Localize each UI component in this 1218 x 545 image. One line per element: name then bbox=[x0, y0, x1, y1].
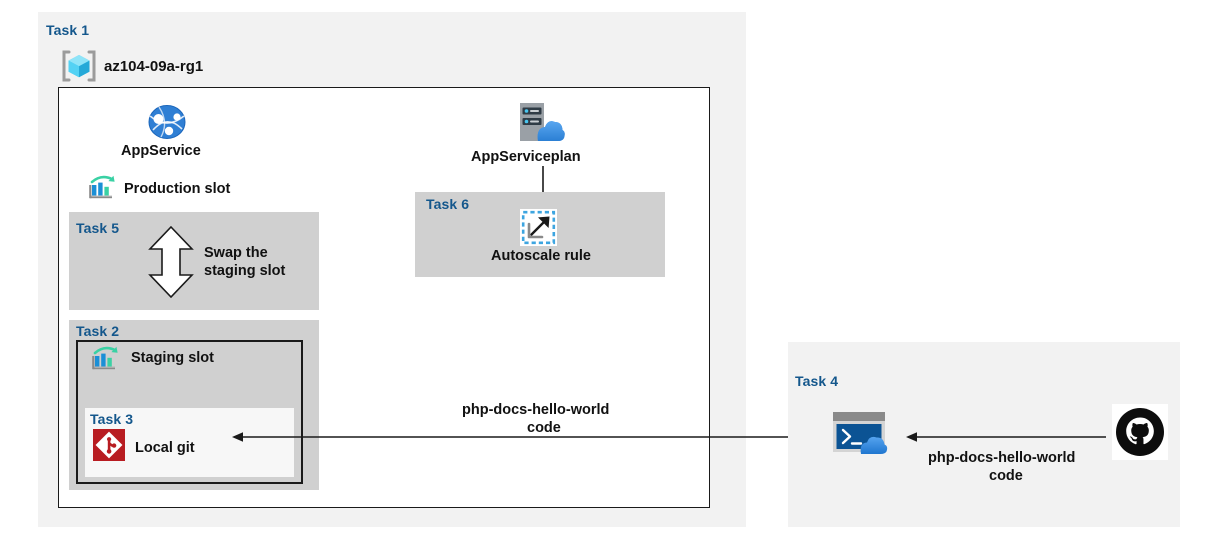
resource-group-cube-icon bbox=[60, 49, 98, 83]
task6-label: Task 6 bbox=[426, 196, 469, 212]
appserviceplan-label: AppServiceplan bbox=[471, 149, 581, 167]
production-slot-label: Production slot bbox=[124, 181, 230, 199]
diagram-canvas: Task 1 az104-09a-rg1 AppService bbox=[0, 0, 1218, 545]
deploy-code-label-line1: php-docs-hello-world bbox=[462, 402, 609, 420]
staging-slot-label: Staging slot bbox=[131, 350, 214, 368]
autoscale-rule-label: Autoscale rule bbox=[491, 248, 591, 266]
app-service-plan-icon bbox=[514, 101, 566, 146]
task4-label: Task 4 bbox=[795, 373, 838, 389]
arrow-github-to-cloudshell bbox=[906, 429, 1106, 445]
cloud-shell-icon bbox=[833, 412, 899, 456]
github-octocat-icon bbox=[1112, 404, 1168, 460]
local-git-label: Local git bbox=[135, 440, 195, 458]
task4-code-label-line1: php-docs-hello-world bbox=[928, 450, 1075, 468]
task5-label: Task 5 bbox=[76, 220, 119, 236]
task2-label: Task 2 bbox=[76, 323, 119, 339]
git-icon bbox=[93, 429, 125, 461]
appservice-label: AppService bbox=[121, 143, 201, 161]
deployment-slot-icon bbox=[91, 346, 119, 373]
arrow-cloudshell-to-localgit bbox=[232, 429, 832, 445]
deployment-slot-icon bbox=[88, 175, 116, 202]
task4-code-label-line2: code bbox=[989, 468, 1023, 486]
app-service-globe-icon bbox=[147, 104, 187, 140]
task3-label: Task 3 bbox=[90, 411, 133, 427]
swap-action-line2: staging slot bbox=[204, 263, 285, 281]
resource-group-name: az104-09a-rg1 bbox=[104, 58, 203, 76]
swap-action-line1: Swap the bbox=[204, 245, 268, 263]
autoscale-icon bbox=[520, 209, 557, 246]
task1-label: Task 1 bbox=[46, 22, 89, 38]
swap-double-arrow-icon bbox=[148, 226, 194, 298]
